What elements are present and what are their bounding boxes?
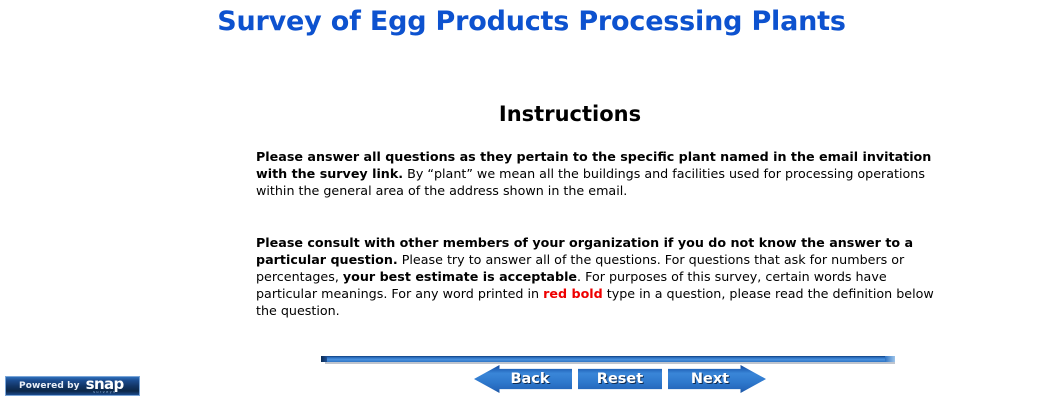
- reset-button-shape: [578, 365, 662, 393]
- back-button[interactable]: Back: [474, 365, 572, 393]
- section-divider: [321, 356, 895, 365]
- section-heading-instructions: Instructions: [0, 101, 1063, 127]
- right-arrow-icon: [668, 365, 766, 393]
- page-title: Survey of Egg Products Processing Plants: [0, 6, 1063, 38]
- left-arrow-icon: [474, 365, 572, 393]
- paragraph-2-red-bold-term: red bold: [543, 286, 603, 301]
- next-button[interactable]: Next: [668, 365, 766, 393]
- powered-by-snap-badge[interactable]: Powered by snap surveys: [5, 376, 140, 396]
- instructions-paragraph-2: Please consult with other members of you…: [256, 234, 940, 320]
- snap-logo-mark: snap surveys: [86, 377, 124, 395]
- instructions-paragraph-1: Please answer all questions as they pert…: [256, 148, 940, 200]
- snap-brand-subtext: surveys: [86, 390, 124, 394]
- paragraph-2-emphasis-bold: your best estimate is acceptable: [343, 269, 577, 284]
- reset-button[interactable]: Reset: [578, 365, 662, 393]
- snap-brand-word: snap: [86, 377, 124, 391]
- divider-shadow: [325, 362, 895, 364]
- powered-by-label: Powered by: [19, 381, 80, 391]
- instructions-block: Please answer all questions as they pert…: [256, 148, 940, 320]
